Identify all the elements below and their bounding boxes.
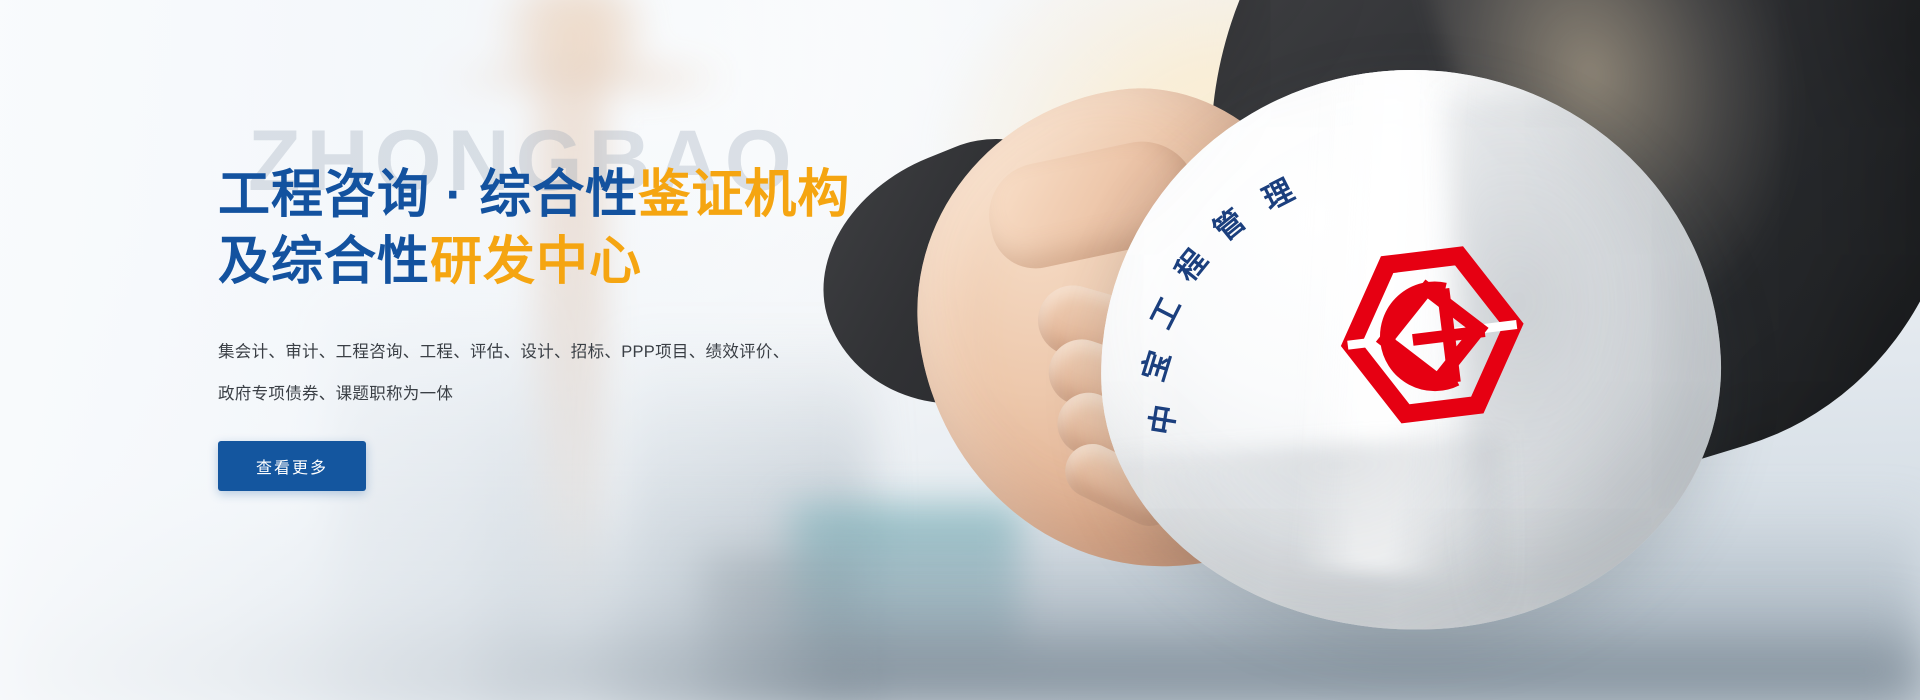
- helmet-brand-char-5: 理: [1259, 175, 1299, 215]
- headline-line2-blue: 及综合性: [218, 233, 430, 291]
- hero-description-line-1: 集会计、审计、工程咨询、工程、评估、设计、招标、PPP项目、绩效评价、: [218, 343, 790, 361]
- helmet-brand-char-3: 程: [1171, 245, 1213, 287]
- headline-line1-blue: 工程咨询 · 综合性: [218, 166, 638, 224]
- helmet-brand-char-4: 管: [1209, 205, 1251, 247]
- headline-line-2: 及综合性研发中心: [218, 229, 938, 296]
- headline-line1-accent: 鉴证机构: [638, 166, 850, 224]
- hero-description-line-2: 政府专项债券、课题职称为一体: [218, 385, 453, 403]
- zhongbao-hexagon-logo: [1329, 238, 1535, 431]
- hero-content: ZHONGBAO 工程咨询 · 综合性鉴证机构 及综合性研发中心 集会计、审计、…: [218, 118, 938, 491]
- hero-description: 集会计、审计、工程咨询、工程、评估、设计、招标、PPP项目、绩效评价、 政府专项…: [218, 331, 818, 415]
- hero-banner: 中 宝 工 程 管 理: [0, 0, 1920, 700]
- hand-holding-helmet-photo: 中 宝 工 程 管 理: [800, 0, 1920, 700]
- headline-line2-accent: 研发中心: [430, 233, 642, 291]
- helmet-brand-char-0: 中: [1147, 403, 1181, 437]
- helmet-brim: [1086, 435, 1515, 646]
- page-title: 工程咨询 · 综合性鉴证机构 及综合性研发中心: [218, 162, 938, 295]
- helmet-brand-char-1: 宝: [1139, 348, 1176, 385]
- headline-line-1: 工程咨询 · 综合性鉴证机构: [218, 162, 938, 229]
- view-more-button[interactable]: 查看更多: [218, 441, 366, 491]
- helmet-brand-char-2: 工: [1147, 294, 1187, 334]
